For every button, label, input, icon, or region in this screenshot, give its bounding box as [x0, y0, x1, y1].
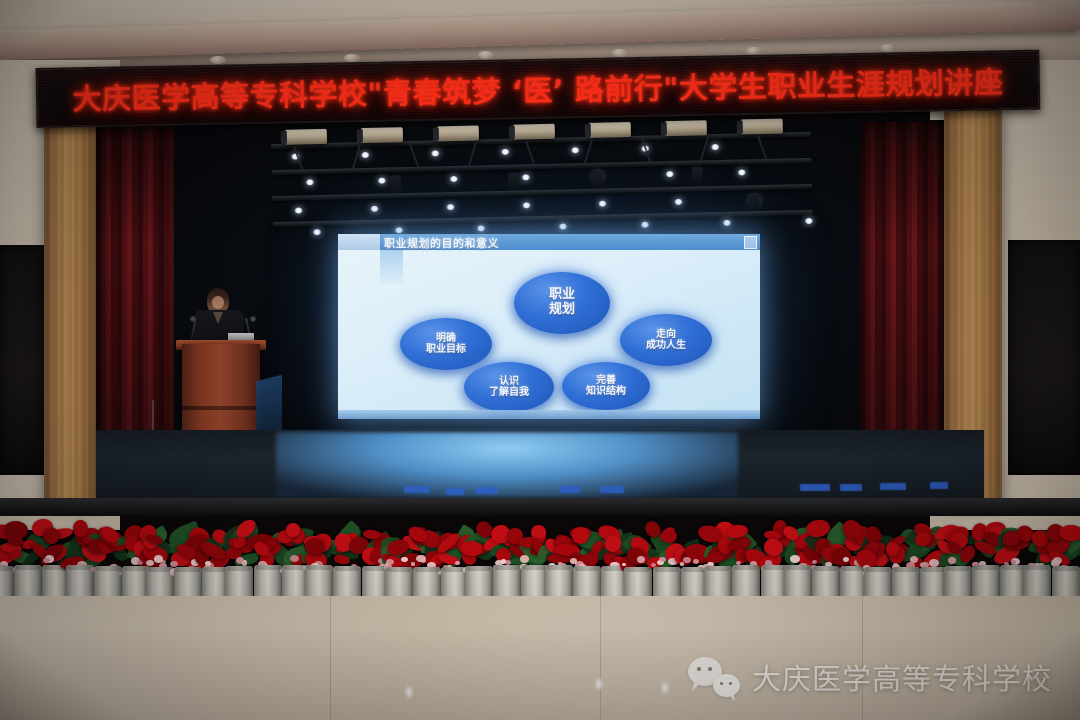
accent-flower: [501, 559, 506, 563]
projection-screen: 职业规划的目的和意义 职业规划明确职业目标走向成功人生认识了解自我完善知识结构: [338, 234, 760, 419]
truss-bar: [272, 184, 812, 201]
accent-flower: [146, 560, 153, 566]
truss-spot-light: [446, 204, 454, 210]
floor-seam: [330, 596, 331, 720]
stage-floor-chip: [800, 484, 830, 491]
accent-flower: [637, 556, 645, 562]
accent-flower: [154, 555, 163, 562]
truss-spot-light: [522, 174, 530, 180]
floor-seam: [600, 596, 601, 720]
truss-spot-light: [711, 144, 719, 150]
accent-flower: [401, 557, 408, 563]
pillar-left: [44, 108, 96, 508]
truss-spot-light: [378, 178, 386, 184]
truss-spot-light: [738, 169, 746, 175]
curtain-shading-right: [860, 122, 944, 472]
slide-title: 职业规划的目的和意义: [384, 235, 499, 251]
truss-spot-light: [306, 179, 314, 185]
truss-spot-light: [723, 220, 731, 226]
slide-bubble-line2: 规划: [549, 303, 575, 318]
accent-flower: [455, 561, 460, 565]
slide-corner-marker: [744, 236, 757, 249]
slide-diagram: 职业规划明确职业目标走向成功人生认识了解自我完善知识结构: [338, 250, 760, 409]
led-banner-text: 大庆医学高等专科学校"青春筑梦 ‘医’ 路前行"大学生职业生涯规划讲座: [72, 59, 1004, 118]
accent-flower: [929, 559, 939, 567]
accent-flower: [843, 557, 849, 562]
hanging-stage-lamp: [748, 193, 759, 210]
accent-flower: [170, 561, 178, 567]
wechat-eye: [697, 667, 701, 671]
truss-diagonal: [757, 135, 767, 160]
slide-bubble-line2: 知识结构: [586, 386, 626, 397]
truss-spot-light: [370, 206, 378, 212]
stage-floor-chip: [840, 484, 862, 491]
wechat-eye: [708, 667, 712, 671]
stage-floor-chip: [930, 482, 948, 489]
truss-spot-light: [501, 149, 509, 155]
truss-spot-light: [431, 150, 439, 156]
slide-bubble-line1: 认识: [499, 376, 519, 387]
microphone-head-right: [250, 316, 256, 322]
lighting-truss: [271, 118, 814, 248]
stage-light-fixture: [741, 119, 783, 135]
wechat-eye: [729, 682, 732, 685]
truss-spot-light: [666, 171, 674, 177]
stage-light-fixture: [285, 129, 327, 145]
watermark: 大庆医学高等专科学校: [688, 656, 1052, 698]
poinsettia-bloom: [459, 540, 483, 556]
truss-spot-light: [805, 218, 813, 224]
truss-spot-light: [641, 222, 649, 228]
truss-spot-light: [571, 147, 579, 153]
slide-bubble-line1: 明确: [436, 333, 456, 344]
stage-light-fixture: [361, 127, 403, 143]
truss-bar: [273, 210, 813, 227]
truss-spot-light: [559, 223, 567, 229]
truss-spot-light: [294, 207, 302, 213]
truss-spot-light: [313, 229, 321, 235]
wechat-icon: [688, 657, 740, 697]
wall-panel-right: [1008, 240, 1080, 475]
podium-monitor: [256, 375, 282, 437]
slide-bubble-right: 走向成功人生: [620, 314, 712, 366]
hanging-stage-lamp: [390, 175, 401, 192]
truss-spot-light: [477, 225, 485, 231]
stage-light-fixture: [437, 125, 479, 141]
slide-bubble-left: 明确职业目标: [400, 318, 492, 370]
truss-diagonal: [409, 143, 419, 168]
stage-light-fixture: [589, 122, 631, 138]
accent-flower: [570, 558, 577, 563]
accent-flower: [416, 555, 426, 563]
auditorium-photo: 职业规划的目的和意义 职业规划明确职业目标走向成功人生认识了解自我完善知识结构 …: [0, 0, 1080, 720]
slide-bubble-bottom-mid: 完善知识结构: [562, 362, 650, 410]
slide-bubble-line2: 成功人生: [646, 340, 686, 351]
slide-title-tab: [338, 234, 380, 250]
curtain-right: [860, 122, 944, 472]
stage-light-fixture: [665, 120, 707, 136]
accent-flower: [411, 562, 415, 566]
accent-flower: [680, 562, 684, 565]
stage-floor-projection: [276, 432, 738, 498]
slide-bubble-line1: 职业: [549, 288, 575, 303]
wall-panel-left: [0, 245, 48, 475]
accent-flower: [736, 561, 741, 565]
slide-bubble-line1: 完善: [596, 375, 616, 386]
slide-bottom-strip: [338, 410, 760, 419]
hanging-stage-lamp: [692, 166, 703, 183]
stage-floor-chip: [880, 483, 906, 490]
slide-bubble-center: 职业规划: [514, 272, 610, 334]
truss-diagonal: [700, 137, 709, 162]
wechat-bubble-small: [713, 674, 740, 697]
accent-flower: [790, 555, 799, 563]
hanging-stage-lamp: [508, 173, 519, 190]
microphone-head-left: [190, 316, 196, 322]
truss-spot-light: [361, 152, 369, 158]
slide-bubble-bottom-left: 认识了解自我: [464, 362, 554, 412]
watermark-account-name: 大庆医学高等专科学校: [752, 656, 1052, 698]
slide-bubble-line2: 职业目标: [426, 344, 466, 355]
ceiling-downlight: [612, 49, 628, 57]
truss-spot-light: [674, 199, 682, 205]
accent-flower: [910, 556, 918, 563]
truss-spot-light: [395, 227, 403, 233]
truss-diagonal: [525, 141, 535, 166]
slide-bubble-line1: 走向: [656, 329, 676, 340]
truss-diagonal: [468, 142, 477, 167]
truss-spot-light: [598, 201, 606, 207]
hanging-stage-lamp: [592, 171, 603, 188]
truss-diagonal: [584, 139, 593, 164]
accent-flower: [693, 559, 699, 564]
floor-light-reflection: [660, 680, 670, 696]
truss-spot-light: [522, 202, 530, 208]
floor-light-reflection: [594, 676, 604, 692]
floor-light-reflection: [404, 684, 414, 700]
ceiling-downlight: [344, 54, 360, 62]
wechat-eye: [720, 682, 723, 685]
truss-spot-light: [450, 176, 458, 182]
truss-diagonal: [352, 144, 361, 169]
stage-light-fixture: [513, 124, 555, 140]
slide-bubble-line2: 了解自我: [489, 387, 529, 398]
ceiling-downlight: [746, 47, 762, 55]
flower-decoration-row: [0, 492, 1080, 606]
speaker-face: [212, 296, 224, 309]
accent-flower: [948, 557, 957, 564]
